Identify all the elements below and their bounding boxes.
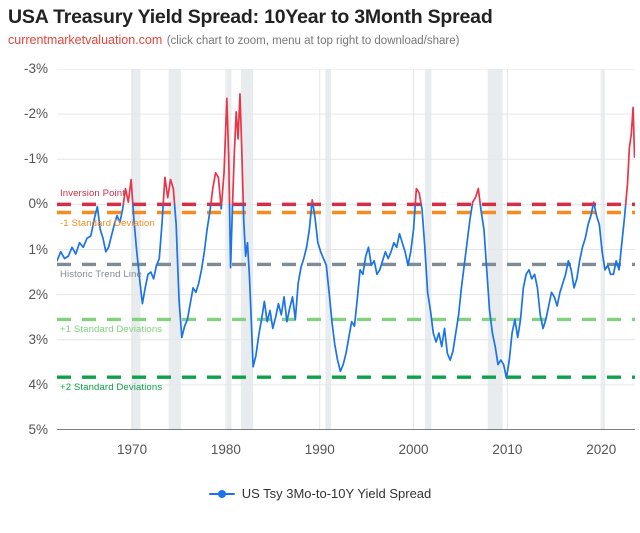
chart-canvas[interactable]: [57, 69, 635, 430]
reference-line-label: Inversion Point: [60, 188, 125, 199]
x-axis-tick-label: 2000: [399, 442, 429, 457]
legend-marker-icon: [209, 488, 235, 500]
chart-page: USA Treasury Yield Spread: 10Year to 3Mo…: [0, 0, 640, 533]
x-axis-tick-label: 1990: [305, 442, 335, 457]
chart-subtitle: currentmarketvaluation.com (click chart …: [8, 32, 636, 49]
chart-plot-area[interactable]: [57, 69, 635, 430]
y-axis-tick-label: -2%: [0, 106, 48, 121]
series-line-inverted: [626, 107, 635, 204]
chart-hint-text: (click chart to zoom, menu at top right …: [167, 35, 460, 47]
source-link[interactable]: currentmarketvaluation.com: [8, 33, 162, 47]
y-axis-tick-label: -1%: [0, 151, 48, 166]
y-axis-tick-label: 3%: [0, 332, 48, 347]
reference-line-label: +2 Standard Deviations: [60, 382, 162, 393]
y-axis-tick-label: 0%: [0, 196, 48, 211]
y-axis-tick-label: 4%: [0, 377, 48, 392]
series-line-inverted: [211, 173, 221, 205]
page-title: USA Treasury Yield Spread: 10Year to 3Mo…: [8, 4, 636, 30]
x-axis-tick-label: 1980: [211, 442, 241, 457]
chart-legend[interactable]: US Tsy 3Mo-to-10Y Yield Spread: [0, 486, 640, 501]
chart-header: USA Treasury Yield Spread: 10Year to 3Mo…: [8, 4, 636, 49]
reference-line-label: -1 Standard Deviation: [60, 218, 155, 229]
series-line-normal: [243, 204, 311, 366]
series-line-inverted: [472, 189, 480, 205]
y-axis-tick-label: 2%: [0, 287, 48, 302]
reference-line-label: Historic Trend Line: [60, 269, 142, 280]
legend-label: US Tsy 3Mo-to-10Y Yield Spread: [242, 486, 432, 501]
y-axis-tick-label: 1%: [0, 242, 48, 257]
series-line-inverted: [415, 189, 421, 205]
y-axis-tick-label: -3%: [0, 61, 48, 76]
x-axis-tick-label: 2010: [492, 442, 522, 457]
y-axis-tick-label: 5%: [0, 422, 48, 437]
x-axis-tick-label: 2020: [586, 442, 616, 457]
reference-line-label: +1 Standard Deviations: [60, 324, 162, 335]
x-axis-tick-label: 1970: [117, 442, 147, 457]
